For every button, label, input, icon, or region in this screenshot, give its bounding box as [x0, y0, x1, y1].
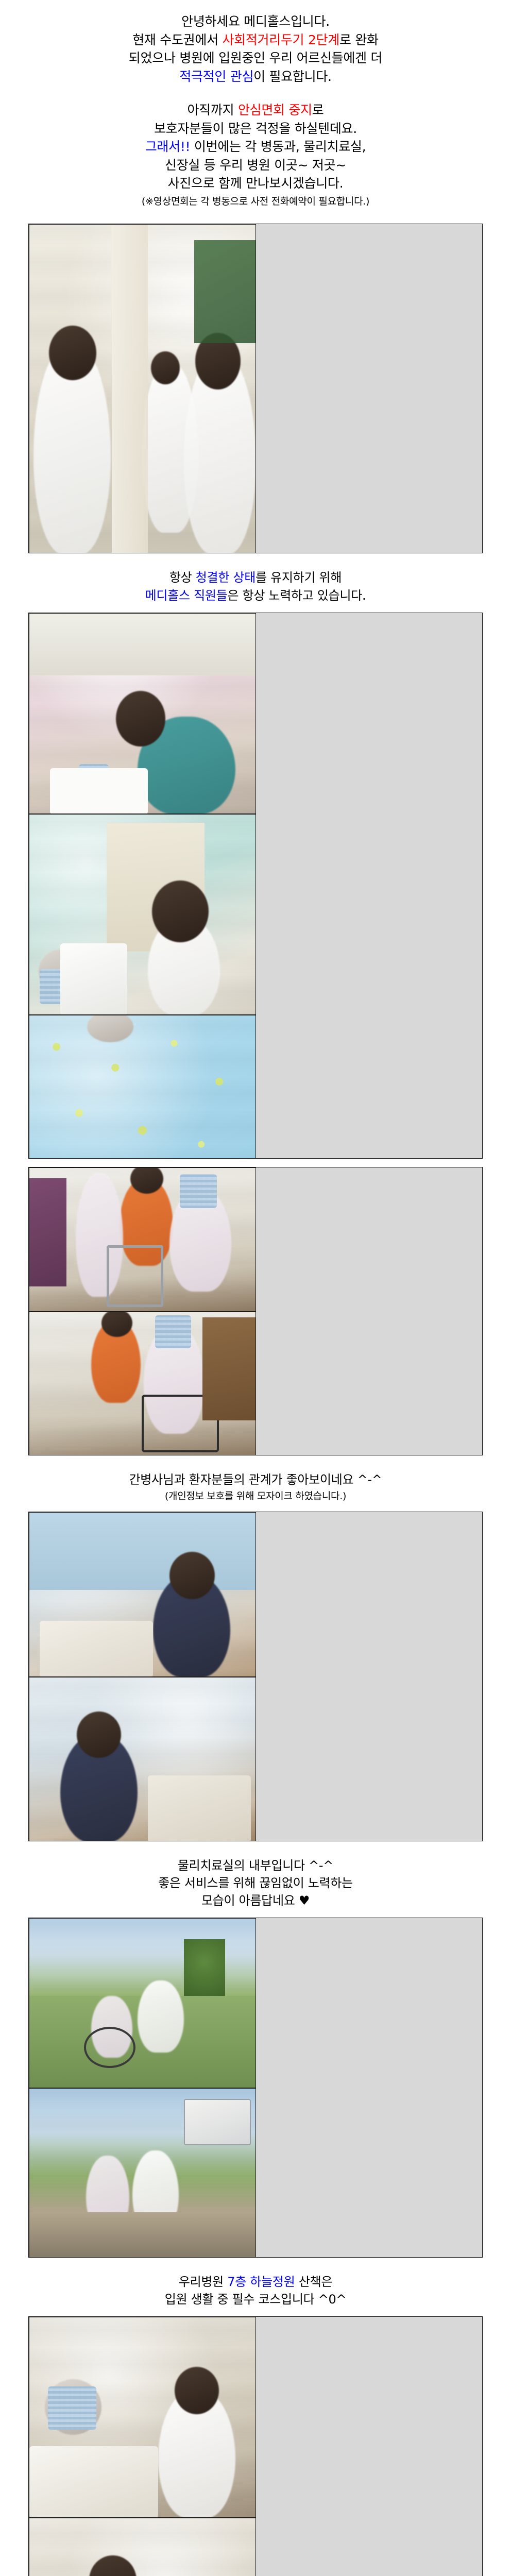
caption-clean-highlight: 청결한 상태 — [196, 570, 255, 585]
caption-pt-block: 물리치료실의 내부입니다 ^-^ 좋은 서비스를 위해 끊임없이 노력하는 모습… — [0, 1857, 511, 1909]
bed-linen — [29, 2446, 158, 2518]
photo-garden-walk-2 — [29, 2088, 256, 2258]
caption-garden-line-2: 입원 생활 중 필수 코스입니다 ^0^ — [0, 2291, 511, 2308]
notice-line-4: 신장실 등 우리 병원 이곳~ 저곳~ — [0, 156, 511, 175]
lobby-sofa — [29, 1178, 66, 1286]
photo-collage-caregiver-patients — [28, 1167, 483, 1455]
notice-line-1-c: 로 — [312, 103, 324, 117]
figure-head — [151, 351, 180, 384]
caption-clean-line-1: 항상 청결한 상태를 유지하기 위해 — [0, 569, 511, 586]
photo-collage-sky-garden — [28, 1918, 483, 2258]
photo-collage-ward-cleaning — [28, 224, 483, 553]
notice-line-3: 그래서!! 이번에는 각 병동과, 물리치료실, — [0, 138, 511, 156]
window — [194, 240, 256, 343]
wood-column — [202, 1317, 256, 1420]
intro-highlight-attention: 적극적인 관심 — [179, 69, 253, 84]
photo-oriental-treatment-1 — [29, 2317, 256, 2518]
intro-line-3: 되었으나 병원에 입원중인 우리 어르신들에겐 더 — [0, 49, 511, 67]
caption-clean-1-a: 항상 — [169, 570, 196, 585]
wall-blue — [29, 1513, 256, 1590]
photo-pt-treatment-1 — [29, 1512, 256, 1677]
figure-head — [175, 2367, 219, 2414]
photo-resting-patient — [29, 1015, 256, 1159]
caption-garden-1-a: 우리병원 — [179, 2275, 227, 2289]
caption-garden-block: 우리병원 7층 하늘정원 산책은 입원 생활 중 필수 코스입니다 ^0^ — [0, 2273, 511, 2308]
figure-head — [77, 1711, 121, 1758]
wheelchair — [84, 2027, 135, 2068]
notice-line-5: 사진으로 함께 만나보시겠습니다. — [0, 174, 511, 193]
caption-caregiver-block: 간병사님과 환자분들의 관계가 좋아보이네요 ^-^ (개인정보 보호를 위해 … — [0, 1471, 511, 1503]
intro-line-1: 안녕하세요 메디홀스입니다. — [0, 12, 511, 31]
intro-line-2: 현재 수도권에서 사회적거리두기 2단계로 완화 — [0, 31, 511, 49]
photo-dialysis-care — [29, 613, 256, 814]
caption-pt-line-1: 물리치료실의 내부입니다 ^-^ — [0, 1857, 511, 1874]
tree — [184, 1939, 225, 1996]
photo-collage-physical-therapy — [28, 1512, 483, 1841]
intro-line-4: 적극적인 관심이 필요합니다. — [0, 67, 511, 86]
bed-linen — [50, 768, 148, 814]
photo-garden-walk-1 — [29, 1918, 256, 2088]
figure-head — [101, 1312, 132, 1337]
caption-garden-highlight: 7층 하늘정원 — [227, 2275, 295, 2289]
photo-bedside-nursing — [29, 814, 256, 1015]
figure-head — [169, 1552, 215, 1599]
treatment-bed — [40, 1621, 153, 1677]
ceiling — [29, 614, 256, 675]
caption-caregiver-note: (개인정보 보호를 위해 모자이크 하였습니다.) — [0, 1489, 511, 1503]
photo-collage-oriental-care — [28, 2316, 483, 2576]
notice-highlight-visit-suspended: 안심면회 중지 — [238, 103, 312, 117]
intro-highlight-distancing: 사회적거리두기 2단계 — [222, 32, 339, 47]
caption-clean-brand: 메디홀스 직원들 — [145, 588, 228, 603]
notice-text-block: 아직까지 안심면회 중지로 보호자분들이 많은 걱정을 하실텐데요. 그래서!!… — [0, 101, 511, 208]
figure-staff — [138, 1980, 184, 2053]
notice-footnote: (※영상면회는 각 병동으로 사전 전화예약이 필요합니다.) — [0, 195, 511, 209]
figure-head — [116, 691, 165, 747]
caption-clean-line-2: 메디홀스 직원들은 항상 노력하고 있습니다. — [0, 587, 511, 604]
notice-line-2: 보호자분들이 많은 걱정을 하실텐데요. — [0, 120, 511, 138]
caption-garden-line-1: 우리병원 7층 하늘정원 산책은 — [0, 2273, 511, 2291]
curtain — [112, 225, 148, 553]
photo-pt-treatment-2 — [29, 1677, 256, 1841]
caption-clean-1-c: 를 유지하기 위해 — [255, 570, 342, 585]
caption-clean-2-b: 은 항상 노력하고 있습니다. — [227, 588, 366, 603]
hospital-signboard — [184, 2099, 251, 2145]
privacy-mosaic — [180, 1174, 217, 1208]
privacy-mosaic — [48, 2386, 96, 2430]
photo-ward-cleaning-left — [29, 224, 256, 553]
intro-line-2-a: 현재 수도권에서 — [132, 32, 222, 47]
walker — [107, 1245, 163, 1307]
page-root: 안녕하세요 메디홀스입니다. 현재 수도권에서 사회적거리두기 2단계로 완화 … — [0, 0, 511, 2576]
caption-caregiver-line-1: 간병사님과 환자분들의 관계가 좋아보이네요 ^-^ — [0, 1471, 511, 1488]
photo-oriental-treatment-2 — [29, 2518, 256, 2576]
intro-text-block: 안녕하세요 메디홀스입니다. 현재 수도권에서 사회적거리두기 2단계로 완화 … — [0, 12, 511, 86]
garden-deck — [29, 2212, 256, 2258]
photo-collage-patient-care — [28, 613, 483, 1159]
intro-line-4-b: 이 필요합니다. — [253, 69, 332, 84]
photo-wheelchair-assist — [29, 1167, 256, 1312]
treatment-bed — [148, 1775, 251, 1841]
notice-highlight-so: 그래서!! — [145, 139, 191, 154]
caption-cleanliness: 항상 청결한 상태를 유지하기 위해 메디홀스 직원들은 항상 노력하고 있습니… — [0, 569, 511, 604]
figure-head — [152, 880, 209, 942]
intro-line-2-c: 로 완화 — [339, 32, 379, 47]
notice-line-1-a: 아직까지 — [187, 103, 237, 117]
pillow — [60, 943, 127, 1015]
notice-line-1: 아직까지 안심면회 중지로 — [0, 101, 511, 120]
caption-pt-line-2: 좋은 서비스를 위해 끊임없이 노력하는 — [0, 1874, 511, 1892]
figure-head — [49, 326, 96, 380]
notice-line-3-b: 이번에는 각 병동과, 물리치료실, — [190, 139, 366, 154]
photo-wheelchair-assist-2 — [29, 1312, 256, 1455]
privacy-mosaic — [155, 1315, 191, 1348]
caption-garden-1-c: 산책은 — [295, 2275, 332, 2289]
caption-pt-line-3: 모습이 아름답네요 ♥ — [0, 1892, 511, 1909]
